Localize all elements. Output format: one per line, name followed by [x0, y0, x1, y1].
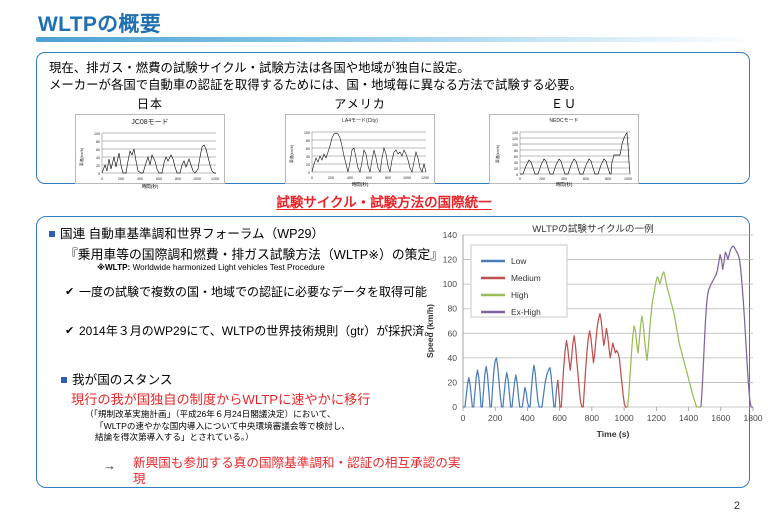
slide-header: WLTPの概要: [0, 0, 768, 46]
cycle-plot-eu: 140120 10080 6040 200 0200 400600 800100…: [490, 124, 640, 182]
svg-text:200: 200: [118, 177, 124, 181]
section-heading-international-unification: 試験サイクル・試験方法の国際統一: [0, 191, 768, 211]
square-bullet-icon: [49, 231, 55, 237]
wltp-footnote-expansion: Worldwide harmonized Light vehicles Test…: [133, 263, 325, 272]
svg-text:800: 800: [385, 176, 391, 180]
svg-text:車速(km/h): 車速(km/h): [289, 144, 294, 163]
svg-text:20: 20: [96, 164, 100, 168]
chart-y-tick-labels: 020406080100120140: [443, 230, 458, 412]
cycle-chart-title-eu: NEDCモード: [490, 115, 638, 124]
svg-text:0: 0: [461, 413, 466, 423]
japan-stance-statement: 現行の我が国独自の制度からWLTPに速やかに移行: [71, 389, 370, 408]
wltp-policy-title: 『乗用車等の国際調和燃費・排ガス試験方法（WLTP※）の策定』: [65, 244, 443, 263]
legend-label-ex-high: Ex-High: [511, 307, 541, 317]
svg-text:車速(km/h): 車速(km/h): [495, 144, 500, 163]
svg-text:1000: 1000: [615, 413, 634, 423]
wltp-chart-svg: 020040060080010001200140016001800 020406…: [423, 221, 763, 443]
svg-text:20: 20: [306, 163, 310, 167]
svg-text:200: 200: [328, 176, 334, 180]
svg-text:1200: 1200: [211, 177, 219, 181]
svg-text:600: 600: [156, 177, 162, 181]
svg-text:0: 0: [519, 177, 521, 181]
svg-text:0: 0: [98, 172, 100, 176]
situation-line-1: 現在、排ガス・燃費の試験サイクル・試験方法は各国や地域が独自に設定。: [49, 58, 470, 76]
japan-stance-footnote: （「規制改革実施計画」（平成26年６月24日閣議決定）において、 「WLTPの速…: [85, 409, 435, 444]
square-bullet-icon: [61, 377, 67, 383]
svg-text:80: 80: [447, 304, 457, 314]
svg-text:800: 800: [585, 413, 600, 423]
chart-x-axis-label: Time (s): [597, 429, 630, 439]
svg-text:1200: 1200: [647, 413, 666, 423]
stance-note-line-3: 結論を得次第導入する」とされている。）: [85, 432, 435, 444]
svg-text:0: 0: [101, 177, 103, 181]
svg-text:40: 40: [96, 156, 100, 160]
cycle-xlabel-usa: 時間(秒): [286, 182, 434, 188]
cycle-block-eu: ＥＵ NEDCモード 140120 10080: [489, 95, 639, 184]
svg-text:120: 120: [443, 255, 458, 265]
benefit-item-2: ✔ 2014年３月のWP29にて、WLTPの世界技術規則（gtr）が採択済。: [79, 324, 439, 339]
legend-label-high: High: [511, 290, 529, 300]
stance-note-line-2: 「WLTPの速やかな国内導入について中央環境審議会等で検討し、: [85, 421, 435, 433]
svg-text:100: 100: [94, 132, 100, 136]
cycle-region-label-eu: ＥＵ: [489, 95, 639, 112]
svg-text:1000: 1000: [624, 177, 632, 181]
wp29-heading: 国連 自動車基準調和世界フォーラム（WP29）: [49, 223, 324, 242]
chart-line-high: [628, 272, 701, 407]
svg-text:400: 400: [561, 177, 567, 181]
wltp-acronym-footnote: ※WLTP: Worldwide harmonized Light vehicl…: [97, 262, 325, 272]
wltp-footnote-prefix: ※WLTP:: [97, 263, 130, 272]
arrow-icon: →: [103, 458, 116, 473]
svg-text:600: 600: [583, 177, 589, 181]
svg-text:60: 60: [96, 148, 100, 152]
cycle-region-label-japan: 日本: [75, 95, 225, 112]
svg-text:600: 600: [366, 176, 372, 180]
cycle-chart-title-japan: JC08モード: [76, 115, 224, 127]
svg-text:0: 0: [308, 171, 310, 175]
svg-text:400: 400: [137, 177, 143, 181]
svg-text:140: 140: [512, 131, 518, 135]
svg-text:40: 40: [514, 161, 518, 165]
svg-text:1000: 1000: [193, 177, 201, 181]
svg-text:140: 140: [443, 230, 458, 240]
svg-text:80: 80: [96, 140, 100, 144]
cycle-chart-japan: JC08モード 10080 6040 200: [75, 114, 225, 184]
svg-text:40: 40: [447, 353, 457, 363]
svg-text:800: 800: [605, 177, 611, 181]
svg-text:100: 100: [443, 279, 458, 289]
benefit-item-1-text: 一度の試験で複数の国・地域での認証に必要なデータを取得可能: [79, 285, 427, 299]
checkmark-icon: ✔: [65, 324, 74, 339]
cycle-plot-usa: 10080 6040 200 0200 400600 8001000 1200 …: [286, 124, 436, 182]
svg-text:20: 20: [447, 377, 457, 387]
japan-stance-heading: 我が国のスタンス: [61, 369, 173, 388]
cycle-chart-eu: NEDCモード 140120 10080 6040: [489, 114, 639, 184]
wp29-heading-text: 国連 自動車基準調和世界フォーラム（WP29）: [60, 227, 324, 241]
svg-text:車速(km/h): 車速(km/h): [79, 147, 84, 166]
svg-text:80: 80: [306, 139, 310, 143]
svg-text:600: 600: [552, 413, 567, 423]
svg-text:40: 40: [306, 155, 310, 159]
svg-text:1000: 1000: [403, 176, 411, 180]
stance-note-line-1: （「規制改革実施計画」（平成26年６月24日閣議決定）において、: [85, 409, 435, 421]
svg-text:400: 400: [347, 176, 353, 180]
svg-text:200: 200: [488, 413, 503, 423]
cycle-plot-japan: 10080 6040 200 0200 400600 8001000 1200 …: [76, 127, 226, 183]
cycle-region-label-usa: アメリカ: [285, 95, 435, 112]
cycle-block-japan: 日本 JC08モード 10080 6040 200: [75, 95, 225, 184]
svg-text:100: 100: [304, 131, 310, 135]
svg-text:60: 60: [447, 328, 457, 338]
svg-text:400: 400: [520, 413, 535, 423]
current-situation-panel: 現在、排ガス・燃費の試験サイクル・試験方法は各国や地域が独自に設定。 メーカーが…: [36, 52, 750, 184]
benefit-item-2-text: 2014年３月のWP29にて、WLTPの世界技術規則（gtr）が採択済。: [79, 324, 436, 338]
chart-y-axis-label: Speed (km/h): [425, 304, 435, 358]
svg-text:80: 80: [514, 149, 518, 153]
svg-text:1200: 1200: [421, 176, 429, 180]
japan-stance-heading-text: 我が国のスタンス: [72, 373, 173, 387]
svg-text:1400: 1400: [679, 413, 698, 423]
wltp-detail-panel: 国連 自動車基準調和世界フォーラム（WP29） 『乗用車等の国際調和燃費・排ガス…: [36, 216, 750, 488]
page-title: WLTPの概要: [38, 8, 161, 38]
page-number: 2: [734, 500, 740, 512]
wltp-cycle-chart: WLTPの試験サイクルの一例 0200400600800100012001400…: [423, 221, 763, 443]
svg-text:0: 0: [452, 402, 457, 412]
svg-text:60: 60: [514, 155, 518, 159]
cycle-xlabel-eu: 時間(秒): [490, 182, 638, 188]
svg-text:100: 100: [512, 143, 518, 147]
svg-text:1600: 1600: [711, 413, 730, 423]
chart-x-tick-labels: 020040060080010001200140016001800: [461, 413, 763, 423]
svg-text:1800: 1800: [743, 413, 762, 423]
cycle-chart-usa: LA4モード(City) 10080 6040 200: [285, 114, 435, 184]
svg-text:120: 120: [512, 137, 518, 141]
checkmark-icon: ✔: [65, 285, 74, 300]
svg-text:60: 60: [306, 147, 310, 151]
svg-text:0: 0: [516, 173, 518, 177]
cycle-block-usa: アメリカ LA4モード(City) 10080 6040 200: [285, 95, 435, 184]
cycle-chart-title-usa: LA4モード(City): [286, 115, 434, 124]
conclusion-statement: 新興国も参加する真の国際基準調和・認証の相互承認の実現: [133, 455, 463, 487]
situation-line-2: メーカーが各国で自動車の認証を取得するためには、国・地域毎に異なる方法で試験する…: [49, 75, 582, 93]
svg-text:800: 800: [175, 177, 181, 181]
chart-legend: LowMediumHighEx-High: [471, 245, 567, 317]
benefit-item-1: ✔ 一度の試験で複数の国・地域での認証に必要なデータを取得可能: [79, 285, 439, 300]
header-divider: [36, 37, 754, 42]
svg-text:20: 20: [514, 167, 518, 171]
svg-text:0: 0: [311, 176, 313, 180]
legend-label-medium: Medium: [511, 273, 541, 283]
legend-label-low: Low: [511, 256, 527, 266]
chart-line-medium: [558, 314, 628, 407]
cycle-xlabel-japan: 時間(秒): [76, 184, 224, 190]
svg-text:200: 200: [539, 177, 545, 181]
chart-line-ex-high: [701, 246, 753, 407]
